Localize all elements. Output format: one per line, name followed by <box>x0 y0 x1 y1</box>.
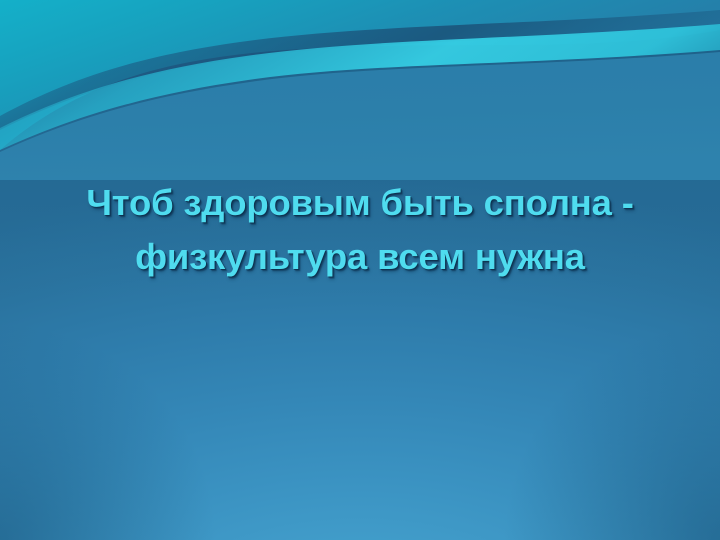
background-corner-vignette-right <box>420 240 720 540</box>
title-line-1: Чтоб здоровым быть сполна - <box>0 176 720 230</box>
page-title: Чтоб здоровым быть сполна - физкультура … <box>0 176 720 284</box>
background-corner-vignette-left <box>0 240 300 540</box>
decorative-wave-graphic <box>0 0 720 180</box>
title-line-2: физкультура всем нужна <box>0 230 720 284</box>
title-slide: Чтоб здоровым быть сполна - физкультура … <box>0 0 720 540</box>
